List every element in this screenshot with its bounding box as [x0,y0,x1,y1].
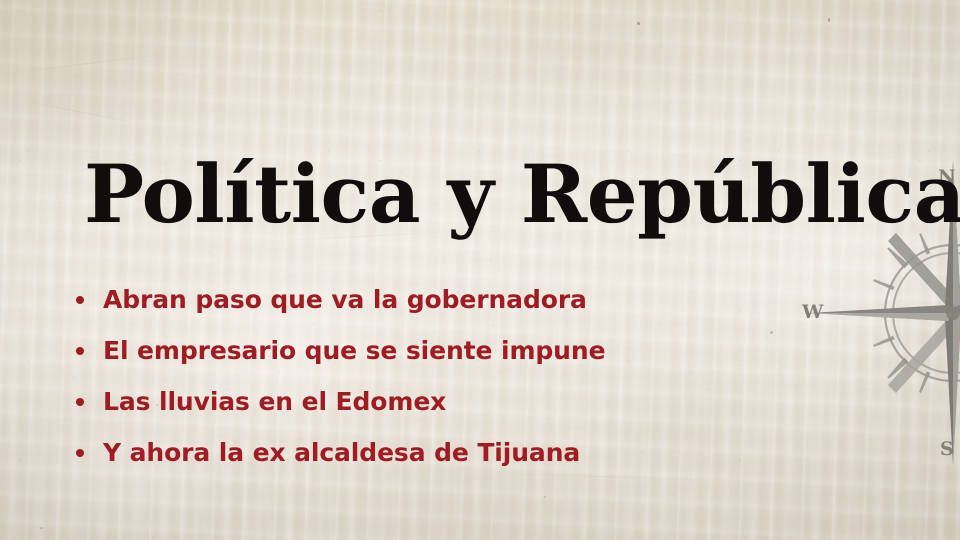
list-item: El empresario que se siente impune [72,325,605,376]
bullet-marker-icon [76,347,84,355]
page-title: Política y República [84,154,960,234]
list-item: Las lluvias en el Edomex [72,376,605,427]
list-item-label: Las lluvias en el Edomex [103,387,446,416]
list-item-label: Y ahora la ex alcaldesa de Tijuana [103,438,580,467]
bullet-marker-icon [76,296,84,304]
slide-canvas: N W S Política y República Abran paso qu… [0,0,960,540]
list-item-label: El empresario que se siente impune [103,336,605,365]
bullet-list: Abran paso que va la gobernadora El empr… [72,274,605,478]
list-item: Abran paso que va la gobernadora [72,274,605,325]
bullet-marker-icon [76,398,84,406]
list-item-label: Abran paso que va la gobernadora [103,285,587,314]
list-item: Y ahora la ex alcaldesa de Tijuana [72,427,605,478]
slide-content: Política y República Abran paso que va l… [0,0,960,540]
bullet-marker-icon [76,449,84,457]
